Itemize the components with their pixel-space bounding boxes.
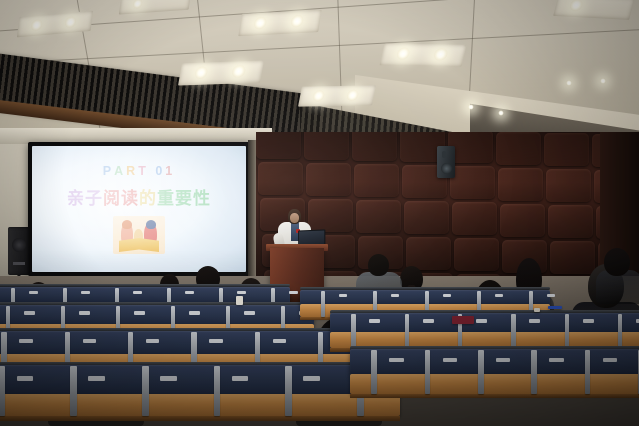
- seat-number-plate: [389, 358, 403, 363]
- slide-part-char-2: R: [126, 164, 138, 178]
- seat-number-plate: [29, 291, 38, 294]
- slide-part-char-0: P: [103, 164, 114, 178]
- seat-number-plate: [339, 294, 347, 297]
- ceiling-light-panel-5: [379, 43, 466, 66]
- lecture-hall-photo: PART 01 亲子阅读的重要性: [0, 0, 639, 426]
- seat-hinge-bracket: [351, 314, 355, 348]
- cup[interactable]: [236, 296, 243, 305]
- seat-hinge-bracket: [285, 366, 292, 416]
- seat-row-backrest[interactable]: [0, 305, 314, 325]
- slide-title-char-5: 重: [157, 184, 175, 209]
- seat-number-plate: [19, 339, 32, 343]
- seat-number-plate: [146, 339, 159, 343]
- wall-speaker-tweeter-icon: [442, 151, 446, 158]
- floor-speaker-label: [13, 262, 25, 265]
- seat-number-plate: [79, 311, 90, 315]
- ceiling-small-downlight-2: [468, 104, 474, 110]
- seat-number-plate: [83, 339, 96, 343]
- seat-number-plate: [81, 291, 90, 294]
- seat-number-plate: [603, 358, 617, 363]
- seat-hinge-bracket: [511, 314, 515, 348]
- seat-number-plate: [209, 339, 222, 343]
- slide-part-char-3: T: [138, 164, 149, 178]
- seat-number-plate: [244, 311, 255, 315]
- blue-pen[interactable]: [548, 306, 562, 309]
- seat-hinge-bracket: [0, 366, 5, 416]
- ceiling-light-panel-3: [178, 60, 264, 85]
- ceiling-downlight: [132, 0, 143, 9]
- floor-speaker-woofer-icon: [12, 238, 26, 252]
- attendee-gray-shirt-back-head: [368, 254, 389, 276]
- illustration-mother-head: [122, 220, 132, 229]
- seat-row-backrest[interactable]: [0, 365, 400, 395]
- slide-title-char-4: 的: [139, 184, 157, 209]
- slide-part-char-1: A: [114, 164, 126, 178]
- seat-number-plate: [237, 291, 246, 294]
- screen-right-edge: [248, 140, 256, 278]
- seat-number-plate: [303, 376, 320, 381]
- seat-number-plate: [391, 294, 399, 297]
- seat-row-desktop[interactable]: [350, 374, 639, 394]
- seat-number-plate: [496, 358, 510, 363]
- ceiling-small-downlight-1: [600, 78, 606, 84]
- projection-screen: PART 01 亲子阅读的重要性: [32, 146, 246, 272]
- seat-number-plate: [232, 376, 249, 381]
- seat-hinge-bracket: [405, 314, 409, 348]
- slide-part-label: PART 01: [32, 164, 246, 178]
- seat-hinge-bracket: [142, 366, 149, 416]
- seat-number-plate: [443, 358, 457, 363]
- seat-number-plate: [369, 319, 380, 323]
- seat-number-plate: [549, 358, 563, 363]
- slide-title-char-0: 亲: [67, 184, 85, 209]
- ceiling-light-panel-4: [298, 85, 376, 106]
- slide-title-char-7: 性: [193, 184, 211, 209]
- seat-number-plate: [495, 294, 503, 297]
- seat-hinge-bracket: [70, 366, 77, 416]
- ceiling-small-downlight-0: [566, 80, 572, 86]
- seat-row-backrest[interactable]: [330, 313, 639, 333]
- ceiling-downlight: [395, 48, 410, 60]
- seat-number-plate: [443, 294, 451, 297]
- attendee-right-back-head: [604, 248, 630, 276]
- ceiling-downlight: [194, 67, 208, 80]
- family-reading-illustration: [113, 216, 165, 254]
- ceiling-downlight: [568, 0, 583, 12]
- seat-number-plate: [529, 319, 540, 323]
- ceiling-downlight: [433, 49, 448, 61]
- presentation-slide: PART 01 亲子阅读的重要性: [32, 146, 246, 272]
- wall-speaker-woofer-icon: [441, 163, 452, 174]
- ceiling-light-panel-2: [238, 10, 321, 36]
- slide-part-char-5: 0: [155, 164, 165, 178]
- slide-part-char-6: 1: [165, 164, 175, 178]
- seat-number-plate: [185, 291, 194, 294]
- ceiling-downlight: [231, 66, 245, 79]
- seat-row-desk-edge: [0, 416, 400, 421]
- slide-title-char-6: 要: [175, 184, 193, 209]
- ceiling-small-downlight-3: [498, 110, 504, 116]
- seat-number-plate: [547, 294, 555, 297]
- seat-number-plate: [134, 311, 145, 315]
- seat-number-plate: [160, 376, 177, 381]
- seat-row-backrest[interactable]: [0, 287, 290, 303]
- seat-hinge-bracket: [321, 291, 325, 317]
- ceiling-downlight: [65, 16, 77, 28]
- seat-row-backrest[interactable]: [0, 331, 356, 355]
- ceiling-light-panel-1: [119, 0, 191, 15]
- illustration-book: [119, 238, 159, 252]
- seat-number-plate: [17, 376, 34, 381]
- seat-number-plate: [88, 376, 105, 381]
- seat-hinge-bracket: [531, 350, 537, 394]
- presenter-face: [290, 213, 299, 223]
- seat-hinge-bracket: [478, 350, 484, 394]
- small-item[interactable]: [534, 308, 540, 312]
- slide-title-char-3: 读: [121, 184, 139, 209]
- red-book[interactable]: [452, 316, 474, 324]
- seat-number-plate: [273, 339, 286, 343]
- seat-hinge-bracket: [585, 350, 591, 394]
- seat-hinge-bracket: [565, 314, 569, 348]
- seat-number-plate: [423, 319, 434, 323]
- illustration-father-head: [146, 220, 156, 229]
- seat-hinge-bracket: [425, 350, 431, 394]
- ceiling-downlight: [312, 90, 325, 101]
- seat-row-desk-edge: [350, 394, 639, 398]
- seat-number-plate: [189, 311, 200, 315]
- ceiling-downlight: [31, 19, 43, 31]
- seat-hinge-bracket: [371, 350, 377, 394]
- seat-hinge-bracket: [214, 366, 221, 416]
- seat-number-plate: [133, 291, 142, 294]
- ceiling-downlight: [290, 15, 304, 28]
- slide-title-char-1: 子: [85, 184, 103, 209]
- ceiling-light-panel-6: [553, 0, 635, 20]
- ceiling-downlight: [346, 90, 359, 101]
- slide-title-char-2: 阅: [103, 184, 121, 209]
- seat-hinge-bracket: [618, 314, 622, 348]
- ceiling-downlight: [254, 17, 268, 30]
- seat-number-plate: [24, 311, 35, 315]
- seat-number-plate: [476, 319, 487, 323]
- seat-number-plate: [289, 291, 298, 294]
- slide-title: 亲子阅读的重要性: [32, 184, 246, 209]
- seat-number-plate: [583, 319, 594, 323]
- seat-row-desktop[interactable]: [0, 394, 400, 416]
